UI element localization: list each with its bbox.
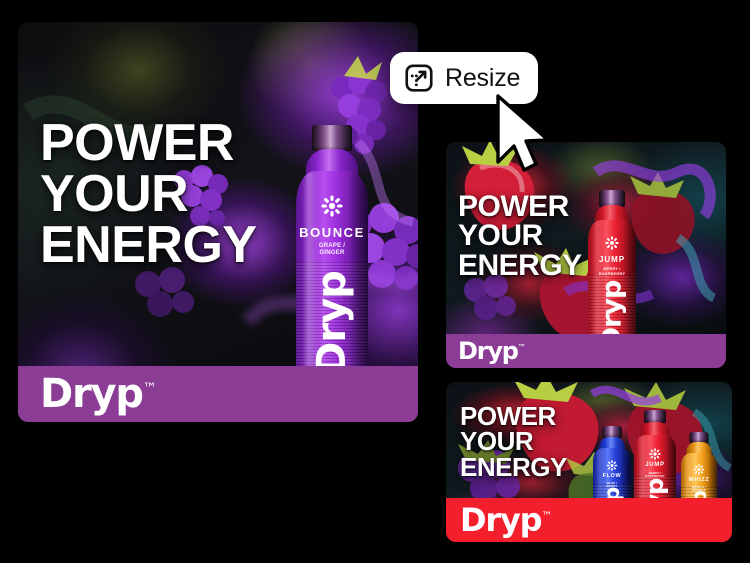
brand-logo-text: Dryp (458, 337, 518, 365)
poster-tertiary-headline: POWER YOUR ENERGY (460, 404, 567, 480)
poster-secondary-brandbar: Dryp™ (446, 334, 726, 368)
brand-logo: Dryp™ (458, 337, 526, 365)
bottle-name: BOUNCE (299, 225, 365, 240)
design-canvas[interactable]: POWER YOUR ENERGY (0, 0, 750, 563)
poster-primary-headline: POWER YOUR ENERGY (40, 118, 257, 271)
resize-button[interactable]: Resize (390, 52, 538, 104)
bottle-name: WHIZZ (689, 477, 710, 483)
poster-tertiary-brandbar: Dryp™ (446, 498, 732, 542)
brand-logo: Dryp™ (460, 501, 552, 539)
bottle-flavor: BERRY / RASPBERRY (599, 267, 625, 276)
bottle-cap (312, 125, 352, 151)
brand-logo-tm: ™ (143, 381, 157, 397)
brand-logo: Dryp™ (40, 371, 156, 417)
flower-icon (607, 460, 618, 471)
brand-logo-text: Dryp (460, 501, 541, 539)
flower-icon (605, 236, 619, 250)
poster-primary-brandbar: Dryp™ (18, 366, 418, 422)
brand-logo-tm: ™ (518, 342, 526, 352)
brand-logo-text: Dryp (40, 371, 143, 417)
resize-arrow-icon (404, 63, 434, 93)
bottle-flavor: GRAPE / GINGER (319, 243, 345, 257)
flower-icon (649, 448, 661, 460)
flower-icon (694, 464, 705, 475)
bottle-vertical-logo: Dryp (309, 271, 355, 375)
brand-logo-tm: ™ (541, 509, 552, 522)
bottle-name: JUMP (645, 462, 665, 468)
poster-secondary-headline: POWER YOUR ENERGY (458, 192, 582, 280)
poster-secondary-strawberry[interactable]: POWER YOUR ENERGY (446, 142, 726, 368)
bottle-name: JUMP (599, 255, 625, 264)
poster-tertiary-trio[interactable]: POWER YOUR ENERGY (446, 382, 732, 542)
flower-icon (321, 195, 343, 217)
bottle-name: FLOW (603, 473, 622, 479)
resize-button-label: Resize (445, 64, 520, 93)
poster-primary-grape[interactable]: POWER YOUR ENERGY (18, 22, 418, 422)
